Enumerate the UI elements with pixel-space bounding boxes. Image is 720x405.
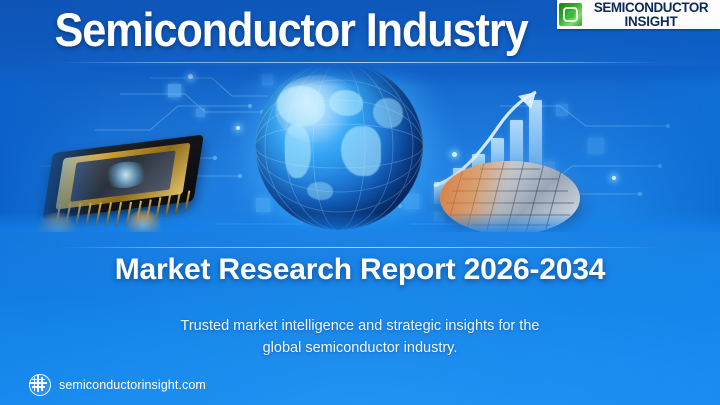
decor-square — [168, 84, 181, 97]
brand-logo-text: SEMICONDUCTOR INSIGHT — [585, 1, 717, 28]
chip-icon — [559, 3, 582, 26]
globe-icon — [29, 374, 51, 396]
divider-bottom — [60, 247, 660, 248]
brand-name-line1: SEMICONDUCTOR — [585, 1, 717, 15]
silicon-wafer-graphic — [440, 161, 580, 232]
report-headline: Market Research Report 2026-2034 — [0, 253, 720, 287]
decor-square — [262, 74, 273, 85]
footer[interactable]: semiconductorinsight.com — [29, 374, 206, 396]
decor-square — [256, 198, 270, 212]
decor-square — [556, 104, 568, 116]
presentation-slide: Semiconductor Industry SEMICONDUCTOR INS… — [0, 0, 720, 405]
hero-graphic — [0, 66, 720, 232]
brand-logo[interactable]: SEMICONDUCTOR INSIGHT — [557, 0, 720, 29]
website-url[interactable]: semiconductorinsight.com — [59, 378, 206, 392]
decor-node — [236, 126, 240, 130]
decor-square — [588, 138, 604, 154]
subtitle-line-2: global semiconductor industry. — [263, 340, 458, 356]
decor-node — [612, 176, 616, 180]
brand-name-line2: INSIGHT — [585, 15, 717, 29]
report-subtitle: Trusted market intelligence and strategi… — [90, 315, 630, 360]
subtitle-line-1: Trusted market intelligence and strategi… — [181, 318, 540, 334]
decor-node — [188, 74, 193, 79]
divider-top — [60, 62, 660, 63]
decor-square — [196, 108, 205, 117]
globe-graphic — [255, 66, 423, 230]
